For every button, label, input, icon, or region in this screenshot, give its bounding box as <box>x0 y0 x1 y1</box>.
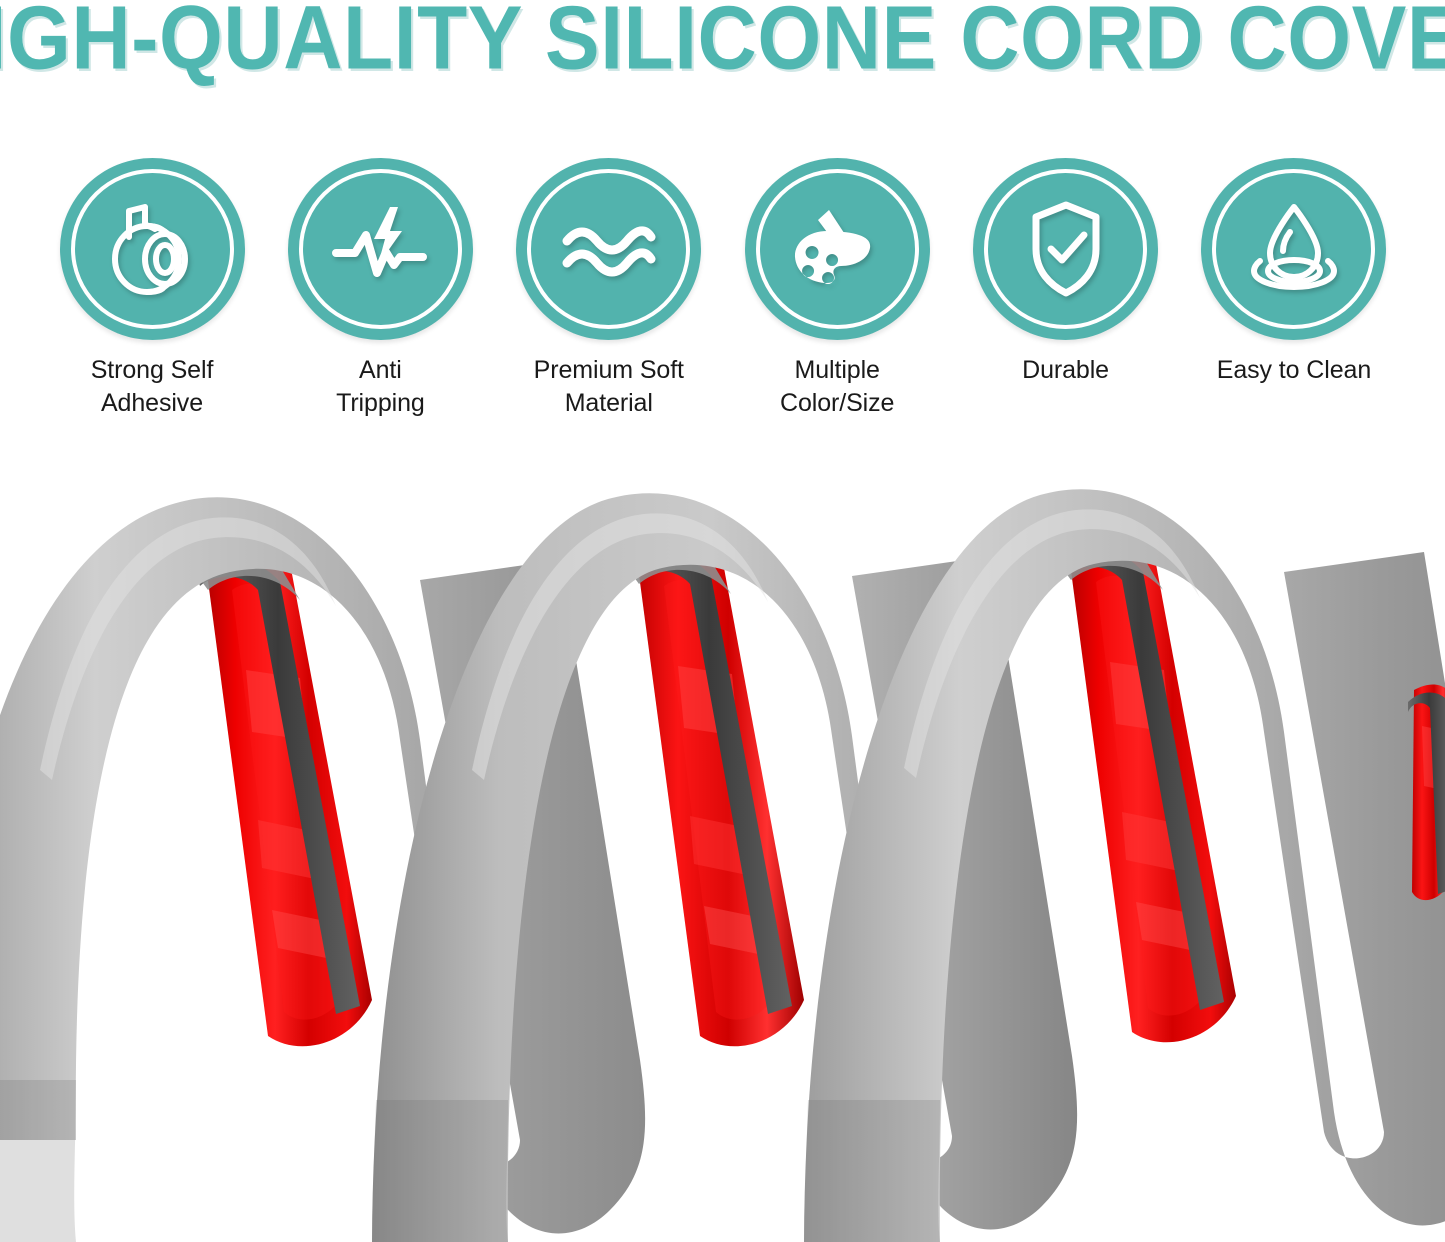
feature-badge <box>516 158 701 340</box>
feature-item-strong-self-adhesive: Strong Self Adhesive <box>48 158 256 420</box>
wavy-lines-icon <box>555 195 663 303</box>
feature-badge <box>1201 158 1386 340</box>
page-title-text: HIGH-QUALITY SILICONE CORD COVER <box>0 0 1445 81</box>
paint-palette-icon <box>782 194 892 304</box>
feature-label: Multiple Color/Size <box>780 354 894 420</box>
feature-item-anti-tripping: Anti Tripping <box>276 158 484 420</box>
feature-badge <box>973 158 1158 340</box>
feature-badge <box>60 158 245 340</box>
feature-badge <box>745 158 930 340</box>
water-drop-icon <box>1240 195 1348 303</box>
product-image <box>0 440 1445 1242</box>
feature-item-easy-to-clean: Easy to Clean <box>1190 158 1398 387</box>
product-infographic: HIGH-QUALITY SILICONE CORD COVER Strong … <box>0 0 1445 1242</box>
shield-check-icon <box>1012 195 1120 303</box>
page-title: HIGH-QUALITY SILICONE CORD COVER <box>0 0 1445 78</box>
tape-roll-icon <box>98 195 206 303</box>
pulse-bolt-icon <box>326 195 434 303</box>
feature-item-multiple-color-size: Multiple Color/Size <box>733 158 941 420</box>
feature-label: Premium Soft Material <box>534 354 684 420</box>
feature-list: Strong Self Adhesive Anti Tripping <box>48 158 1398 418</box>
feature-label: Durable <box>1022 354 1109 387</box>
feature-badge <box>288 158 473 340</box>
feature-label: Easy to Clean <box>1217 354 1371 387</box>
feature-item-premium-soft-material: Premium Soft Material <box>505 158 713 420</box>
feature-item-durable: Durable <box>962 158 1170 387</box>
feature-label: Anti Tripping <box>336 354 425 420</box>
silicone-cord-cover-coil <box>0 440 1445 1242</box>
feature-label: Strong Self Adhesive <box>91 354 214 420</box>
